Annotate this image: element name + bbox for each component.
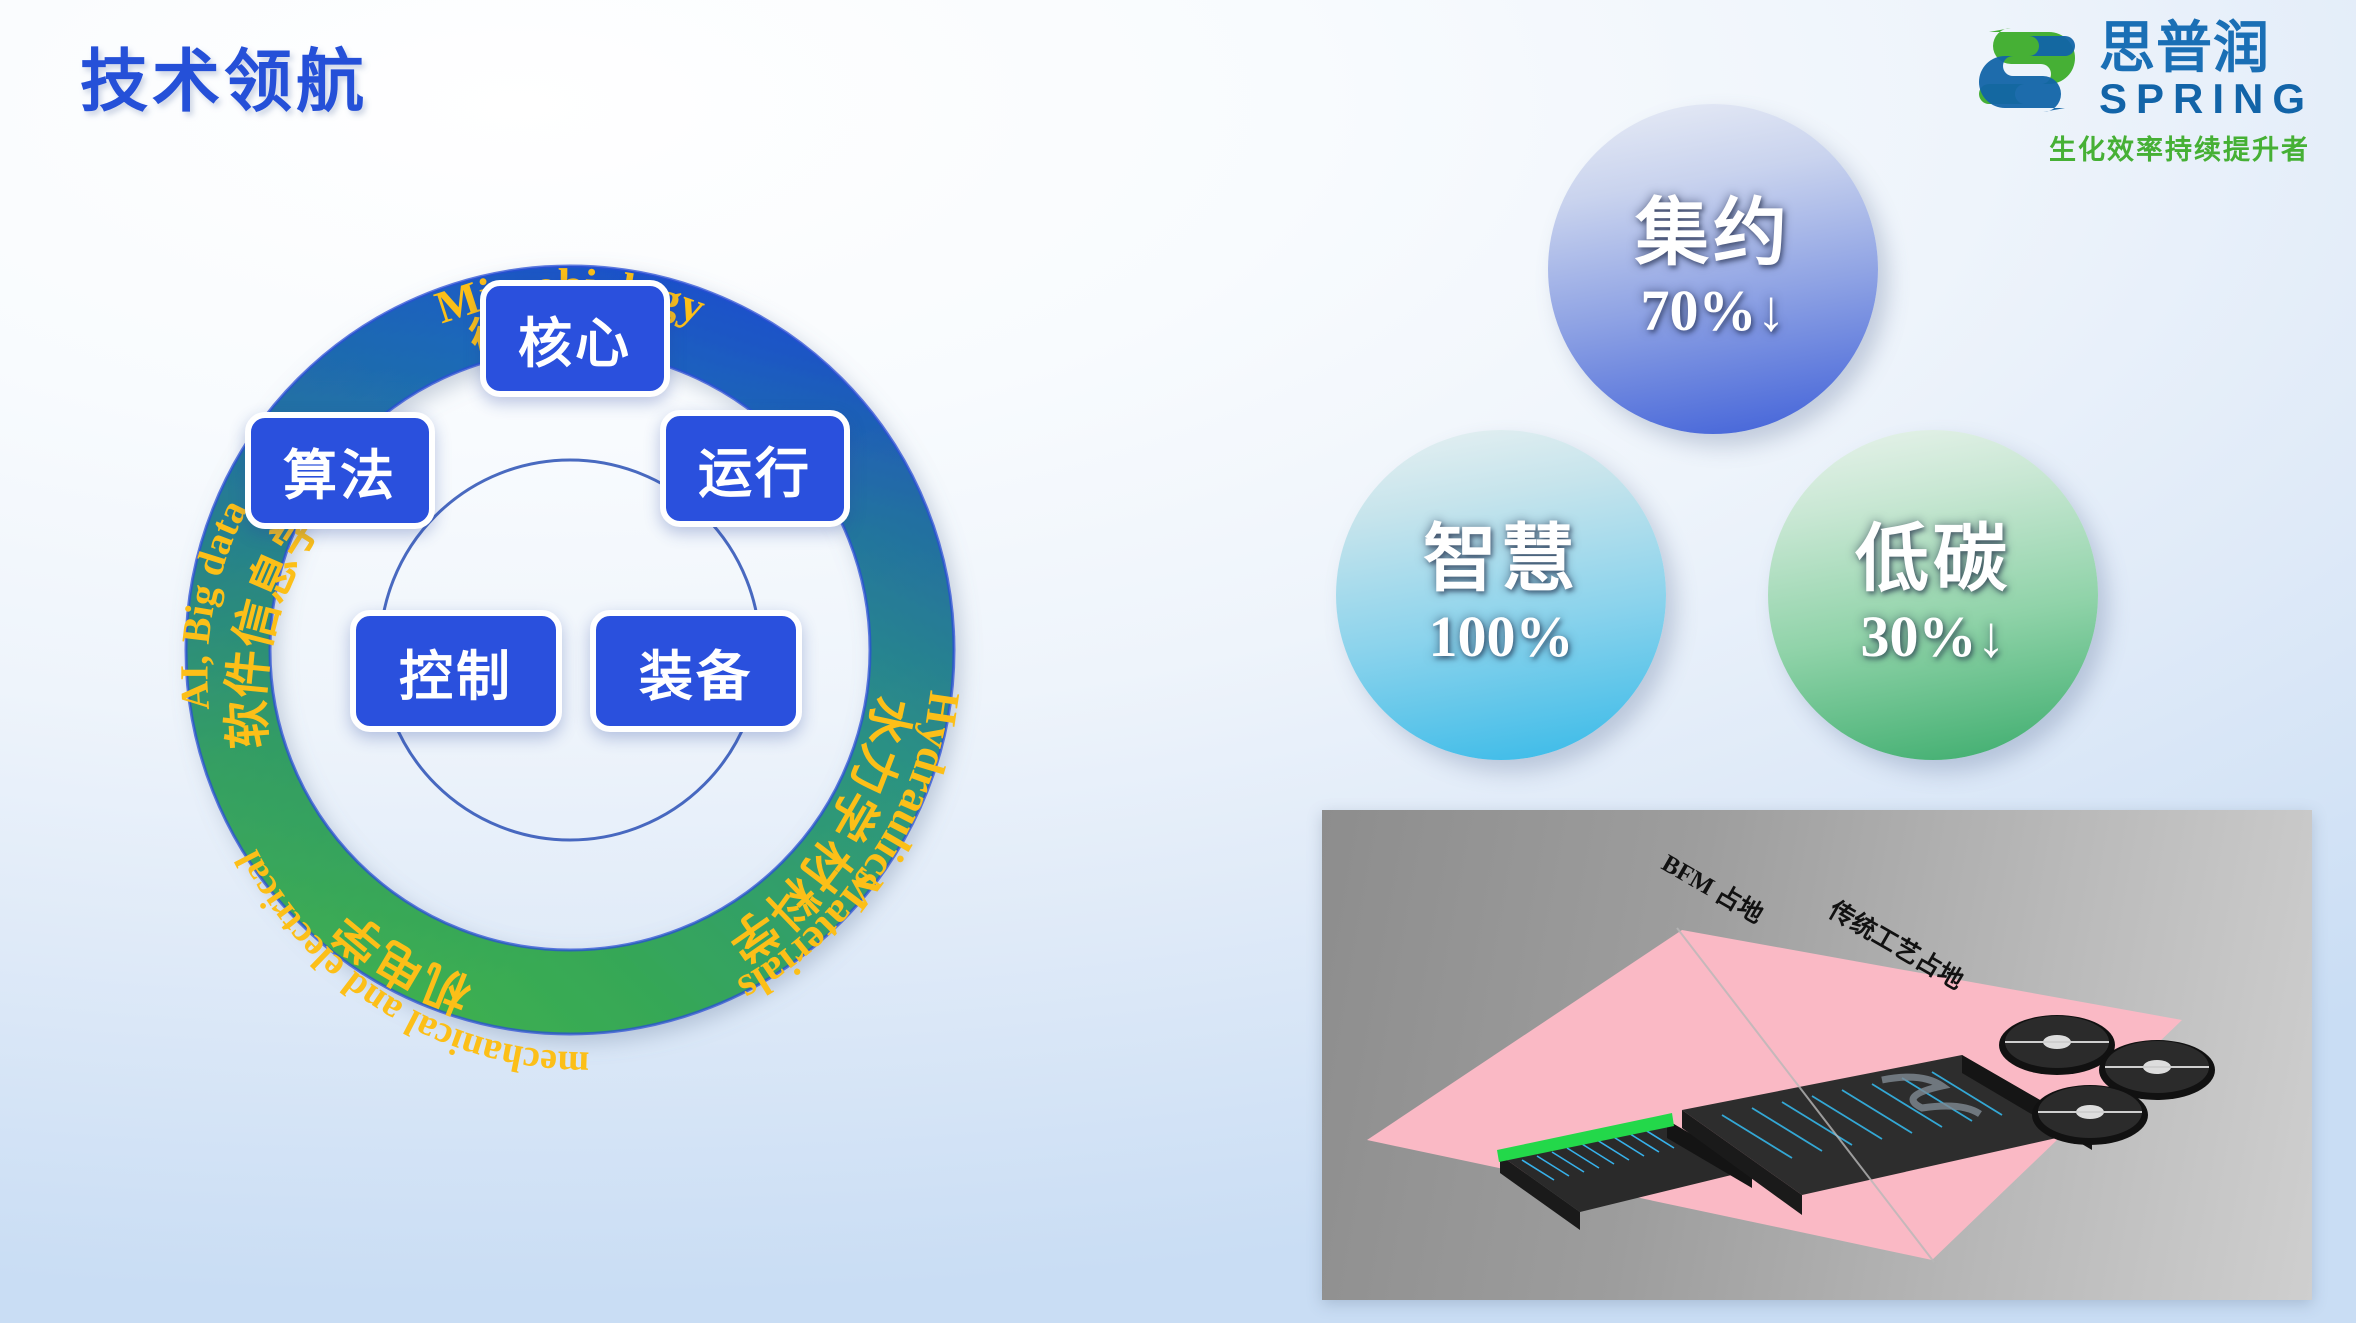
bubble-label: 集约 xyxy=(1635,194,1791,272)
ring-node-ctrl[interactable]: 控制 xyxy=(350,610,562,732)
logo-english-name: SPRING xyxy=(2099,78,2314,120)
brand-logo: 思普润 SPRING 生化效率持续提升者 xyxy=(1973,18,2314,167)
ring-node-algo[interactable]: 算法 xyxy=(245,412,435,529)
ring-node-core[interactable]: 核心 xyxy=(480,280,670,397)
logo-row: 思普润 SPRING xyxy=(1973,18,2314,122)
ring-node-run[interactable]: 运行 xyxy=(660,410,850,527)
ring-node-equip[interactable]: 装备 xyxy=(590,610,802,732)
bubble-value: 30%↓ xyxy=(1861,603,2006,670)
page-title: 技术领航 xyxy=(80,26,368,125)
logo-chinese-name: 思普润 xyxy=(2099,20,2270,76)
metric-bubble-lowcarbon[interactable]: 低碳 30%↓ xyxy=(1768,430,2098,760)
logo-tagline: 生化效率持续提升者 xyxy=(2049,128,2310,167)
logo-text: 思普润 SPRING xyxy=(2099,20,2314,120)
traditional-clarifier-3 xyxy=(2032,1085,2148,1145)
bubble-label: 智慧 xyxy=(1423,520,1579,598)
metric-bubble-intensive[interactable]: 集约 70%↓ xyxy=(1548,104,1878,434)
footprint-comparison-image: BFM 占地 传统工艺占地 xyxy=(1322,810,2312,1300)
technology-ring-diagram: Microbiology 微生物学 Hydraulics 水力学 Materia… xyxy=(60,130,1080,1310)
spring-logo-mark-icon xyxy=(1973,18,2081,122)
panel-label-bfm: BFM 占地 xyxy=(1657,849,1768,929)
bubble-value: 100% xyxy=(1429,603,1574,670)
bubble-label: 低碳 xyxy=(1855,520,2011,598)
traditional-clarifier-1 xyxy=(1999,1015,2115,1075)
bubble-value: 70%↓ xyxy=(1641,277,1786,344)
metric-bubble-smart[interactable]: 智慧 100% xyxy=(1336,430,1666,760)
